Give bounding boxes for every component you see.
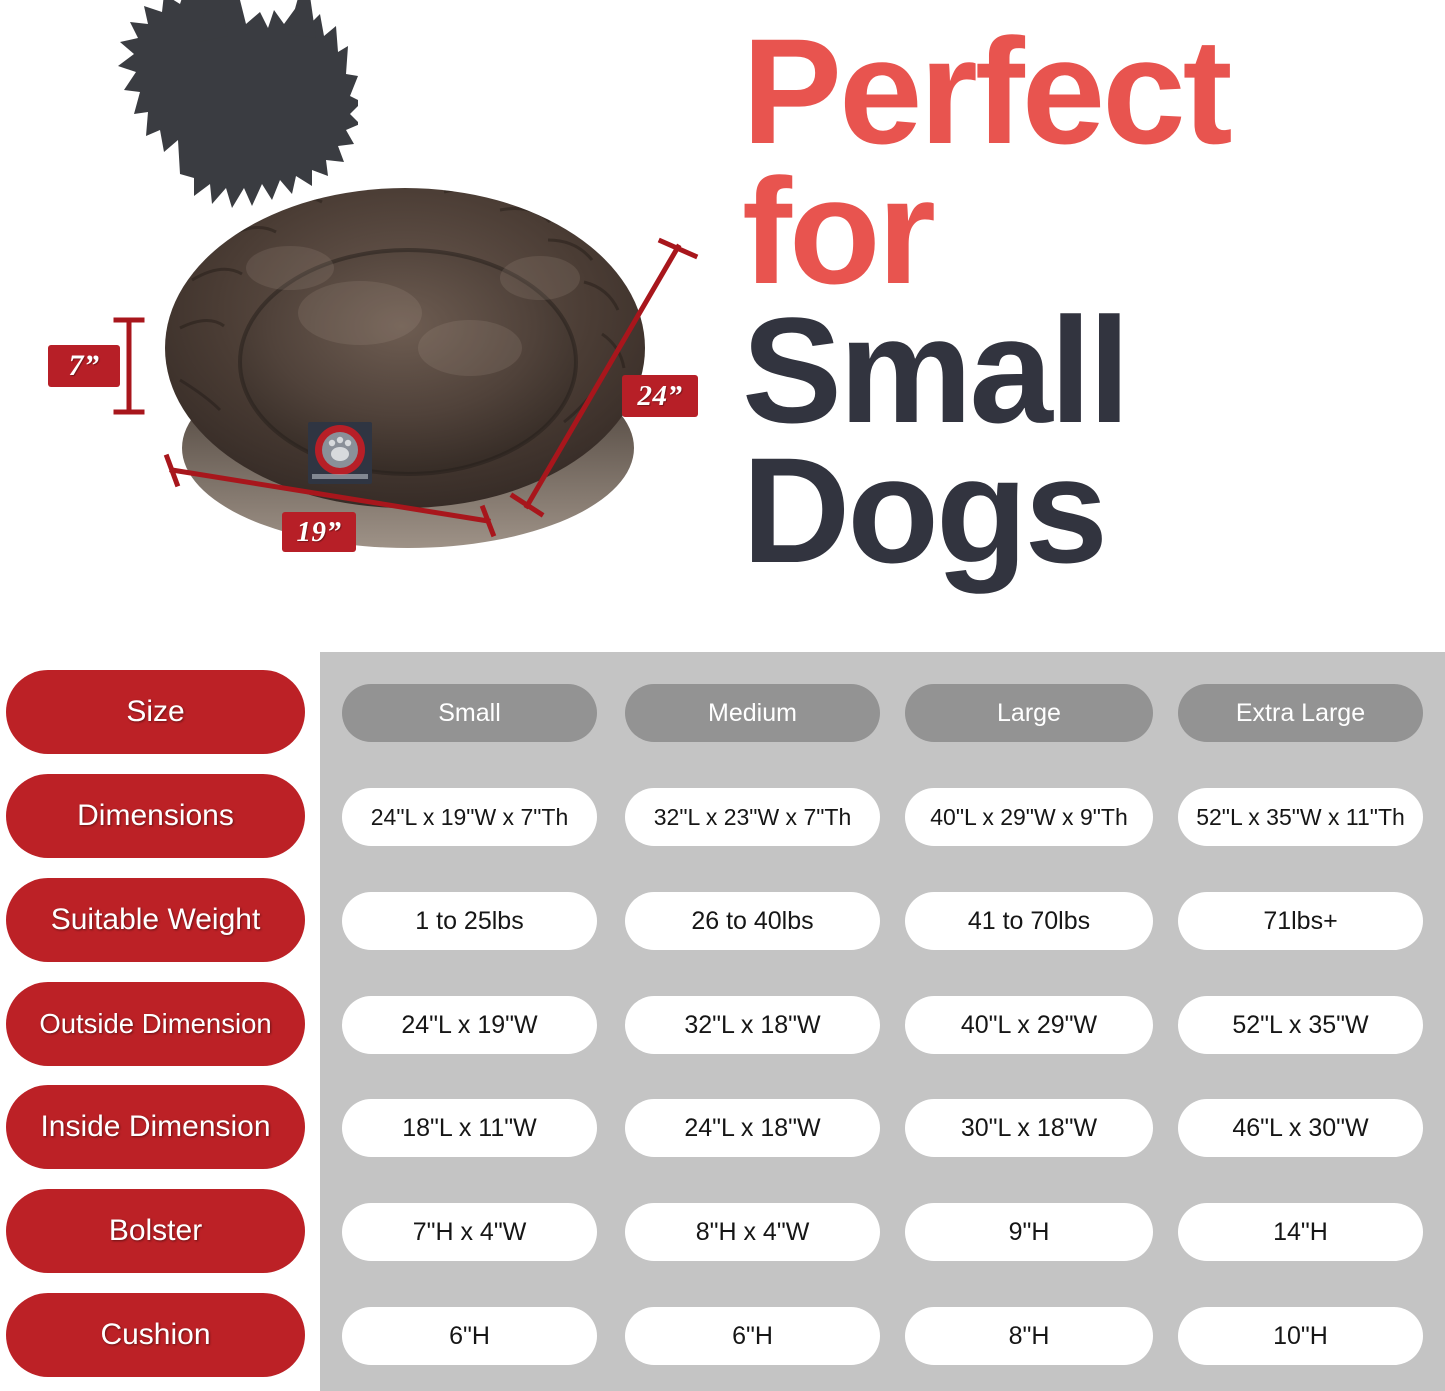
cell-weight-medium: 26 to 40lbs xyxy=(625,892,880,950)
row-label-dimensions: Dimensions xyxy=(6,774,305,858)
column-header-medium: Medium xyxy=(625,684,880,742)
headline-line-1: Perfect for xyxy=(742,22,1442,301)
cell-bolster-large: 9"H xyxy=(905,1203,1153,1261)
row-label-column: Size Dimensions Suitable Weight Outside … xyxy=(0,652,320,1391)
column-header-large: Large xyxy=(905,684,1153,742)
cell-outside-medium: 32"L x 18"W xyxy=(625,996,880,1054)
cell-outside-small: 24"L x 19"W xyxy=(342,996,597,1054)
cell-dimensions-medium: 32"L x 23"W x 7"Th xyxy=(625,788,880,846)
cell-dimensions-small: 24"L x 19"W x 7"Th xyxy=(342,788,597,846)
brand-tag-icon xyxy=(308,422,372,484)
cell-bolster-extra-large: 14"H xyxy=(1178,1203,1423,1261)
headline-line-3: Dogs xyxy=(742,441,1442,581)
height-callout-badge: 7” xyxy=(48,345,120,387)
cell-inside-extra-large: 46"L x 30"W xyxy=(1178,1099,1423,1157)
dog-bed-product-image xyxy=(140,148,670,568)
width-callout-badge: 19” xyxy=(282,512,356,552)
cell-cushion-large: 8"H xyxy=(905,1307,1153,1365)
column-header-extra-large: Extra Large xyxy=(1178,684,1423,742)
row-label-bolster: Bolster xyxy=(6,1189,305,1273)
spec-grid-panel: Small Medium Large Extra Large 24"L x 19… xyxy=(320,652,1445,1391)
row-label-size: Size xyxy=(6,670,305,754)
row-label-outside-dimension: Outside Dimension xyxy=(6,982,305,1066)
column-header-small: Small xyxy=(342,684,597,742)
row-label-cushion: Cushion xyxy=(6,1293,305,1377)
specification-table: Size Dimensions Suitable Weight Outside … xyxy=(0,652,1445,1391)
headline-line-2: Small xyxy=(742,301,1442,441)
cell-cushion-small: 6"H xyxy=(342,1307,597,1365)
cell-dimensions-large: 40"L x 29"W x 9"Th xyxy=(905,788,1153,846)
cell-cushion-medium: 6"H xyxy=(625,1307,880,1365)
cell-weight-small: 1 to 25lbs xyxy=(342,892,597,950)
cell-outside-extra-large: 52"L x 35"W xyxy=(1178,996,1423,1054)
cell-inside-small: 18"L x 11"W xyxy=(342,1099,597,1157)
cell-dimensions-extra-large: 52"L x 35"W x 11"Th xyxy=(1178,788,1423,846)
cell-outside-large: 40"L x 29"W xyxy=(905,996,1153,1054)
hero-section: 7” 19” 24” Perfect for Small Dogs xyxy=(0,0,1445,652)
headline: Perfect for Small Dogs xyxy=(742,22,1442,580)
cell-inside-large: 30"L x 18"W xyxy=(905,1099,1153,1157)
row-label-suitable-weight: Suitable Weight xyxy=(6,878,305,962)
row-label-inside-dimension: Inside Dimension xyxy=(6,1085,305,1169)
cell-cushion-extra-large: 10"H xyxy=(1178,1307,1423,1365)
cell-bolster-medium: 8"H x 4"W xyxy=(625,1203,880,1261)
length-callout-badge: 24” xyxy=(622,375,698,417)
cell-inside-medium: 24"L x 18"W xyxy=(625,1099,880,1157)
cell-weight-extra-large: 71lbs+ xyxy=(1178,892,1423,950)
cell-bolster-small: 7"H x 4"W xyxy=(342,1203,597,1261)
cell-weight-large: 41 to 70lbs xyxy=(905,892,1153,950)
product-infographic: 7” 19” 24” Perfect for Small Dogs Size D… xyxy=(0,0,1445,1391)
